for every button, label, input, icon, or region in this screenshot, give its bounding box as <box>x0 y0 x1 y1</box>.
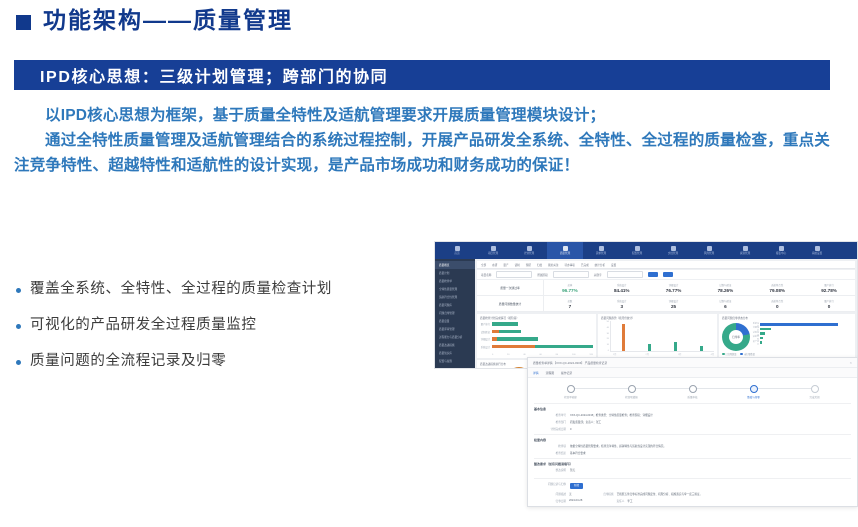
kpi-value: 96.77% <box>562 288 578 293</box>
bar-track <box>492 337 593 341</box>
table-row: 质量一次通过率总体96.77%系统设计84.41%详细设计76.77%试制与验证… <box>477 280 855 296</box>
bar <box>760 323 838 326</box>
topnav-item-default[interactable]: 计划管理 <box>511 242 547 259</box>
bar <box>622 324 625 351</box>
kpi-caption: 总体 <box>568 283 573 287</box>
bar-segment <box>497 337 538 341</box>
step-circle-icon <box>628 385 636 393</box>
home-icon <box>455 246 460 251</box>
step-label: 质量审核 <box>687 395 697 399</box>
detail-window-screenshot: 质量检查单详情 【XXX-QC-2024-0315】 产品质量检查记录 × 详情… <box>527 357 858 507</box>
kpi-value: 79.08% <box>769 288 785 293</box>
kpi-caption: 详细设计 <box>669 283 679 287</box>
topnav-item-label: 系统设置 <box>812 252 822 255</box>
axis-tick: 50 <box>607 321 609 323</box>
detail-key: 检查部门 <box>534 421 566 425</box>
topnav-item-default[interactable]: 文档管理 <box>655 242 691 259</box>
detail-row: 检查项依据全特性质量管理要求，核查竞争特性、超越特性与适航性设计实现的符合情况。 <box>534 444 851 451</box>
step-circle-icon <box>567 385 575 393</box>
sidebar-item[interactable]: 问题归零管理 <box>435 309 475 317</box>
axis-tick: 40 <box>607 327 609 329</box>
section-title: 整改要求（如有问题请填写） <box>534 458 851 468</box>
calendar-icon <box>527 246 532 251</box>
kpi-value: 92.78% <box>821 288 837 293</box>
kpi-row-label: 质量问题数量统计 <box>477 296 544 311</box>
kpi-cell: 试制与验证78.26% <box>699 280 751 295</box>
axis-tick: 30 <box>607 333 609 335</box>
chart-plot: 50403020100 <box>601 321 714 352</box>
chart-title: 质量问题趋势（按月份统计） <box>601 316 714 320</box>
detail-key: 检查项 <box>534 445 566 449</box>
kpi-caption: 量产放行 <box>824 299 834 303</box>
detail-value: 无 <box>622 506 625 507</box>
stepper-step[interactable]: 检查单创建 <box>540 385 601 399</box>
detail-key: 计划完成日期 <box>534 428 566 432</box>
detail-row: 计划完成日期0 <box>534 427 851 434</box>
step-label: 检查单创建 <box>564 395 577 399</box>
detail-row: 检查部门研发质量部；负责人：张工 <box>534 420 851 427</box>
chart-plot: 量产放行试制验证详细设计系统设计 <box>480 321 593 354</box>
kpi-value: 76.77% <box>666 288 682 293</box>
kpi-cell: 量产放行0 <box>803 296 855 311</box>
dashboard-filter-bar: 项目名称 所属阶段 关键字 <box>477 270 855 279</box>
bar-track <box>492 345 593 349</box>
dashboard-main: 全部在研量产试制预研归档我的关注待办事项已完成统计分析设置 项目名称 所属阶段 … <box>475 259 857 369</box>
detail-field: 责任人李工 <box>592 499 632 503</box>
chart-x-axis: 020406080100120 <box>480 354 593 356</box>
detail-sections: 基本信息检查单号XXX-QC-2024-0315；检查类型：全特性质量检查；检查… <box>534 403 851 475</box>
bar-row: 系统设计 <box>480 344 593 350</box>
step-circle-icon <box>689 385 697 393</box>
detail-value: 2024-03-28 <box>569 499 582 503</box>
progress-stepper: 检查单创建 检查项填报 质量审核 整改与归零 完成关闭 <box>534 382 851 403</box>
detail-row: 审核状态已通过备注无 <box>534 505 851 508</box>
tab[interactable]: 我的关注 <box>548 263 558 267</box>
mini-bar-chart: 系统设计详细设计试制验证适航符合量产放行 <box>752 321 852 351</box>
list-item: 覆盖全系统、全特性、全过程的质量检查计划 <box>16 280 436 298</box>
body-paragraph-2: 通过全特性质量管理及适航管理结合的系统过程控制，开展产品研发全系统、全特性、全过… <box>14 128 844 178</box>
detail-window-titlebar: 质量检查单详情 【XXX-QC-2024-0315】 产品质量检查记录 × <box>528 358 857 368</box>
axis-tick: 120 <box>589 354 593 356</box>
bar-segment <box>535 345 593 349</box>
step-circle-icon <box>750 385 758 393</box>
stepper-step[interactable]: 质量审核 <box>662 385 723 399</box>
dashboard-screenshot: 首页项目管理计划管理质量管理需求管理配置管理文档管理风险管理资源管理报表中心系统… <box>434 241 858 369</box>
detail-row: 问题描述无归零措施已按照五条归零标准完成问题定位、机理分析、措施落实与举一反三验… <box>534 491 851 498</box>
axis-tick: 20 <box>607 338 609 340</box>
step-label: 完成关闭 <box>809 395 819 399</box>
bar-track <box>492 330 593 334</box>
banner: IPD核心思想：三级计划管理；跨部门的协同 <box>14 60 830 90</box>
tab[interactable]: 待办事项 <box>565 263 575 267</box>
kpi-cell: 量产放行92.78% <box>803 280 855 295</box>
chart-y-axis: 50403020100 <box>601 321 610 352</box>
users-icon <box>743 246 748 251</box>
step-label: 检查项填报 <box>625 395 638 399</box>
step-circle-icon <box>811 385 819 393</box>
chart-x-axis: 1月2月3月4月 <box>601 352 714 356</box>
list-item-label: 可视化的产品研发全过程质量监控 <box>30 316 257 334</box>
legend-entry: 未归零数量 <box>740 352 754 356</box>
folder-icon <box>491 246 496 251</box>
bar <box>760 341 762 344</box>
sidebar-item[interactable]: 质量评审管理 <box>435 325 475 333</box>
attachment-fields: 问题描述无归零措施已按照五条归零标准完成问题定位、机理分析、措施落实与举一反三验… <box>534 491 851 508</box>
bar <box>648 344 651 351</box>
kpi-value: 7 <box>569 304 572 309</box>
dashboard-sidebar: 质量概览质量计划质量检查单全特性质量管理适航符合性管理质量问题库问题归零管理质量… <box>435 259 475 369</box>
bar-segment <box>492 330 499 334</box>
detail-key: 整改说明 <box>534 469 566 473</box>
sidebar-item[interactable]: 适航符合性管理 <box>435 293 475 301</box>
chart-title: 质量检查计划完成情况（按阶段） <box>480 316 593 320</box>
detail-value: 0 <box>570 428 571 432</box>
topnav-item-default[interactable]: 需求管理 <box>583 242 619 259</box>
shield-icon <box>563 246 568 251</box>
detail-row: 归零日期2024-03-28责任人李工 <box>534 498 851 505</box>
stepper-step[interactable]: 完成关闭 <box>784 385 845 399</box>
section-title: 基本信息 <box>534 403 851 413</box>
bar-segment <box>492 322 518 326</box>
detail-value: 研发质量部；负责人：张工 <box>570 421 601 425</box>
detail-field: 问题描述无 <box>534 492 572 496</box>
bullet-dot-icon <box>16 324 21 329</box>
bar-segment <box>492 345 535 349</box>
kpi-cell: 详细设计25 <box>648 296 700 311</box>
bar <box>760 337 763 340</box>
axis-tick: 4月 <box>711 352 714 356</box>
kpi-caption: 系统设计 <box>617 283 627 287</box>
bar-label: 详细设计 <box>480 337 490 341</box>
square-bullet-icon <box>16 15 31 30</box>
stepper-step-active[interactable]: 整改与归零 <box>723 385 784 399</box>
axis-tick: 20 <box>507 354 509 356</box>
kpi-table: 质量一次通过率总体96.77%系统设计84.41%详细设计76.77%试制与验证… <box>477 280 855 312</box>
legend-swatch <box>722 353 725 356</box>
tab[interactable]: 全部 <box>481 263 486 267</box>
chart-title: 质量问题归零状态分布 <box>722 316 852 320</box>
axis-tick: 2月 <box>646 352 649 356</box>
detail-value: 李工 <box>627 499 632 503</box>
kpi-cell: 系统设计3 <box>596 296 648 311</box>
topnav-item-label: 计划管理 <box>524 252 534 255</box>
kpi-caption: 总数 <box>568 299 573 303</box>
sidebar-item[interactable]: 配置与权限 <box>435 357 475 365</box>
bar <box>760 332 765 335</box>
donut-center-label: 归零率 <box>729 330 743 344</box>
bar-row: 适航符合 <box>752 337 852 340</box>
tab[interactable]: 统计分析 <box>595 263 605 267</box>
charts-row: 质量检查计划完成情况（按阶段） 量产放行试制验证详细设计系统设计 0204060… <box>477 314 855 358</box>
detail-window-body: 检查单创建 检查项填报 质量审核 整改与归零 完成关闭 <box>528 378 857 507</box>
chart-icon <box>779 246 784 251</box>
step-label: 整改与归零 <box>747 395 760 399</box>
list-item: 质量问题的全流程记录及归零 <box>16 352 436 370</box>
tab[interactable]: 在研 <box>492 263 497 267</box>
bar-row: 量产放行 <box>480 321 593 327</box>
sidebar-item[interactable]: 过程能力与质量分析 <box>435 333 475 341</box>
dashboard-body: 质量概览质量计划质量检查单全特性质量管理适航符合性管理质量问题库问题归零管理质量… <box>435 259 857 369</box>
detail-field: 备注无 <box>587 506 625 507</box>
axis-tick: 3月 <box>678 352 681 356</box>
page-title-text: 功能架构——质量管理 <box>43 9 293 32</box>
tab[interactable]: 试制 <box>515 263 520 267</box>
sidebar-item[interactable]: 质量概览 <box>435 261 475 269</box>
detail-key: 审核状态 <box>534 506 566 507</box>
topnav-item-default[interactable]: 首页 <box>439 242 475 259</box>
detail-value: 已通过 <box>569 506 577 507</box>
list-item: 可视化的产品研发全过程质量监控 <box>16 316 436 334</box>
tab[interactable]: 量产 <box>503 263 508 267</box>
sidebar-item[interactable]: 质量度量 <box>435 317 475 325</box>
bar-segment <box>499 330 521 334</box>
sidebar-item[interactable]: 质量检查单 <box>435 277 475 285</box>
detail-key: 检查结论 <box>534 452 566 456</box>
banner-text: IPD核心思想：三级计划管理；跨部门的协同 <box>14 63 388 87</box>
detail-value: XXX-QC-2024-0315；检查类型：全特性质量检查；检查阶段：详细设计 <box>570 414 653 418</box>
bar-label: 试制验证 <box>480 330 490 334</box>
search-button[interactable] <box>648 272 658 277</box>
kpi-value: 0 <box>828 304 831 309</box>
axis-tick: 10 <box>607 344 609 346</box>
topnav-item-label: 资源管理 <box>740 252 750 255</box>
doc-icon <box>671 246 676 251</box>
legend-swatch <box>740 353 743 356</box>
tab[interactable]: 流程图 <box>546 371 554 375</box>
kpi-cell: 详细设计76.77% <box>648 280 700 295</box>
kpi-value: 84.41% <box>614 288 630 293</box>
sidebar-item[interactable]: 质量知识库 <box>435 349 475 357</box>
kpi-cell: 总数7 <box>544 296 596 311</box>
topnav-item-label: 需求管理 <box>596 252 606 255</box>
bullet-list: 覆盖全系统、全特性、全过程的质量检查计划 可视化的产品研发全过程质量监控 质量问… <box>16 280 436 388</box>
filter-stage-select[interactable] <box>553 271 589 278</box>
kpi-value: 6 <box>724 304 727 309</box>
bar-label: 量产放行 <box>752 340 759 346</box>
topnav-item-default[interactable]: 资源管理 <box>727 242 763 259</box>
detail-key: 归零日期 <box>534 499 566 503</box>
settings-icon <box>815 246 820 251</box>
kpi-caption: 试制与验证 <box>719 283 731 287</box>
topnav-item-default[interactable]: 项目管理 <box>475 242 511 259</box>
detail-row: 检查单号XXX-QC-2024-0315；检查类型：全特性质量检查；检查阶段：详… <box>534 413 851 420</box>
axis-tick: 40 <box>523 354 525 356</box>
dashboard-topnav: 首页项目管理计划管理质量管理需求管理配置管理文档管理风险管理资源管理报表中心系统… <box>435 242 857 259</box>
reset-button[interactable] <box>663 272 673 277</box>
bar-row: 详细设计 <box>480 336 593 342</box>
filter-keyword-input[interactable] <box>607 271 643 278</box>
axis-tick: 80 <box>556 354 558 356</box>
topnav-item-label: 质量管理 <box>560 252 570 255</box>
topnav-item-default[interactable]: 风险管理 <box>691 242 727 259</box>
detail-value: 依据全特性质量管理要求，核查竞争特性、超越特性与适航性设计实现的符合情况。 <box>570 445 666 449</box>
bar-row: 系统设计 <box>752 323 852 326</box>
kpi-caption: 详细设计 <box>669 299 679 303</box>
detail-value: 暂无 <box>570 469 575 473</box>
detail-key: 检查单号 <box>534 414 566 418</box>
kpi-value: 0 <box>776 304 779 309</box>
page-title: 功能架构——质量管理 <box>16 9 293 32</box>
kpi-cell: 总体96.77% <box>544 280 596 295</box>
body-paragraph-1: 以IPD核心思想为框架，基于质量全特性及适航管理要求开展质量管理模块设计； <box>14 103 844 128</box>
tab[interactable]: 设置 <box>611 263 616 267</box>
topnav-item-label: 首页 <box>454 252 459 255</box>
topnav-item-label: 文档管理 <box>668 252 678 255</box>
detail-window-tabs: 详情流程图操作记录 <box>528 368 857 378</box>
detail-field: 归零措施已按照五条归零标准完成问题定位、机理分析、措施落实与举一反三验证。 <box>582 492 703 496</box>
detail-row: 整改说明暂无 <box>534 468 851 475</box>
detail-field: 审核状态已通过 <box>534 506 577 507</box>
topnav-item-default[interactable]: 配置管理 <box>619 242 655 259</box>
gear-icon <box>635 246 640 251</box>
tab[interactable]: 预研 <box>526 263 531 267</box>
kpi-caption: 适航符合性 <box>771 283 783 287</box>
attachment-header: 问题记录与归零 新增 <box>534 482 851 491</box>
axis-tick: 1月 <box>613 352 616 356</box>
axis-tick: 100 <box>572 354 576 356</box>
bar-row: 试制验证 <box>752 332 852 335</box>
sidebar-item[interactable]: 质量计划 <box>435 269 475 277</box>
bar-row: 试制验证 <box>480 329 593 335</box>
filter-label-project: 项目名称 <box>481 273 491 277</box>
chart-closure-status: 质量问题归零状态分布 归零率 系统设计详细设计试制验证适航符合量产放行 已归零数… <box>719 314 855 358</box>
bullet-dot-icon <box>16 360 21 365</box>
axis-tick: 0 <box>492 354 493 356</box>
sidebar-item[interactable]: 质量问题库 <box>435 301 475 309</box>
topnav-item-label: 报表中心 <box>776 252 786 255</box>
detail-row: 检查结论基本符合要求 <box>534 451 851 458</box>
sidebar-item[interactable]: 全特性质量管理 <box>435 285 475 293</box>
chart-plot: 归零率 系统设计详细设计试制验证适航符合量产放行 <box>722 321 852 351</box>
topnav-item-label: 风险管理 <box>704 252 714 255</box>
alert-icon <box>707 246 712 251</box>
topnav-item-label: 配置管理 <box>632 252 642 255</box>
chart-issue-trend: 质量问题趋势（按月份统计） 50403020100 1月2月3月4月 <box>598 314 717 358</box>
detail-key: 归零措施 <box>582 492 614 496</box>
bar-row: 量产放行 <box>752 341 852 344</box>
chart-plan-completion: 质量检查计划完成情况（按阶段） 量产放行试制验证详细设计系统设计 0204060… <box>477 314 596 358</box>
filter-label-stage: 所属阶段 <box>537 273 547 277</box>
attachment-label: 问题记录与归零 <box>534 483 566 489</box>
topnav-item-default[interactable]: 系统设置 <box>799 242 835 259</box>
kpi-value: 25 <box>671 304 676 309</box>
filter-label-keyword: 关键字 <box>594 273 602 277</box>
kpi-caption: 量产放行 <box>824 283 834 287</box>
kpi-value: 78.26% <box>718 288 734 293</box>
bar <box>760 328 771 331</box>
bar <box>674 342 677 351</box>
kpi-cell: 试制与验证6 <box>699 296 751 311</box>
stepper-step[interactable]: 检查项填报 <box>601 385 662 399</box>
chart-bars <box>610 321 714 352</box>
topnav-item-active[interactable]: 质量管理 <box>547 242 583 259</box>
list-item-label: 质量问题的全流程记录及归零 <box>30 352 226 370</box>
list-icon <box>599 246 604 251</box>
section-title: 检查内容 <box>534 434 851 444</box>
kpi-value: 3 <box>620 304 623 309</box>
bar-track <box>492 322 593 326</box>
tab[interactable]: 归档 <box>537 263 542 267</box>
kpi-caption: 适航符合性 <box>771 299 783 303</box>
detail-window-title: 质量检查单详情 【XXX-QC-2024-0315】 产品质量检查记录 <box>533 361 607 365</box>
tab[interactable]: 操作记录 <box>561 371 572 375</box>
kpi-cell: 系统设计84.41% <box>596 280 648 295</box>
filter-project-input[interactable] <box>496 271 532 278</box>
close-icon[interactable]: × <box>850 360 852 365</box>
donut-chart: 归零率 <box>722 323 750 351</box>
divider <box>534 478 851 479</box>
detail-value: 基本符合要求 <box>570 452 586 456</box>
detail-key: 问题描述 <box>534 492 566 496</box>
detail-field: 归零日期2024-03-28 <box>534 499 582 503</box>
detail-value: 已按照五条归零标准完成问题定位、机理分析、措施落实与举一反三验证。 <box>617 492 703 496</box>
body-copy: 以IPD核心思想为框架，基于质量全特性及适航管理要求开展质量管理模块设计； 通过… <box>14 103 844 178</box>
tab[interactable]: 已完成 <box>581 263 589 267</box>
chart-legend: 已归零数量未归零数量 <box>722 352 852 356</box>
list-item-label: 覆盖全系统、全特性、全过程的质量检查计划 <box>30 280 332 298</box>
topnav-item-default[interactable]: 报表中心 <box>763 242 799 259</box>
kpi-caption: 系统设计 <box>617 299 627 303</box>
detail-value: 无 <box>569 492 572 496</box>
add-record-button[interactable]: 新增 <box>570 483 583 489</box>
bullet-dot-icon <box>16 288 21 293</box>
axis-tick: 60 <box>539 354 541 356</box>
detail-key: 责任人 <box>592 499 624 503</box>
kpi-cell: 适航符合性79.08% <box>751 280 803 295</box>
tab[interactable]: 详情 <box>533 371 539 375</box>
dashboard-tabs: 全部在研量产试制预研归档我的关注待办事项已完成统计分析设置 <box>477 261 855 269</box>
bar <box>700 346 703 351</box>
sidebar-item[interactable]: 质量改进措施 <box>435 341 475 349</box>
table-row: 质量问题数量统计总数7系统设计3详细设计25试制与验证6适航符合性0量产放行0 <box>477 296 855 312</box>
kpi-caption: 试制与验证 <box>719 299 731 303</box>
bar-label: 量产放行 <box>480 322 490 326</box>
detail-key: 备注 <box>587 506 619 507</box>
axis-tick: 0 <box>608 350 609 352</box>
kpi-row-label: 质量一次通过率 <box>477 280 544 295</box>
slide-root: 功能架构——质量管理 IPD核心思想：三级计划管理；跨部门的协同 以IPD核心思… <box>0 0 858 527</box>
topnav-item-label: 项目管理 <box>488 252 498 255</box>
legend-entry: 已归零数量 <box>722 352 736 356</box>
bar-row: 详细设计 <box>752 328 852 331</box>
bar-label: 系统设计 <box>480 345 490 349</box>
kpi-cell: 适航符合性0 <box>751 296 803 311</box>
